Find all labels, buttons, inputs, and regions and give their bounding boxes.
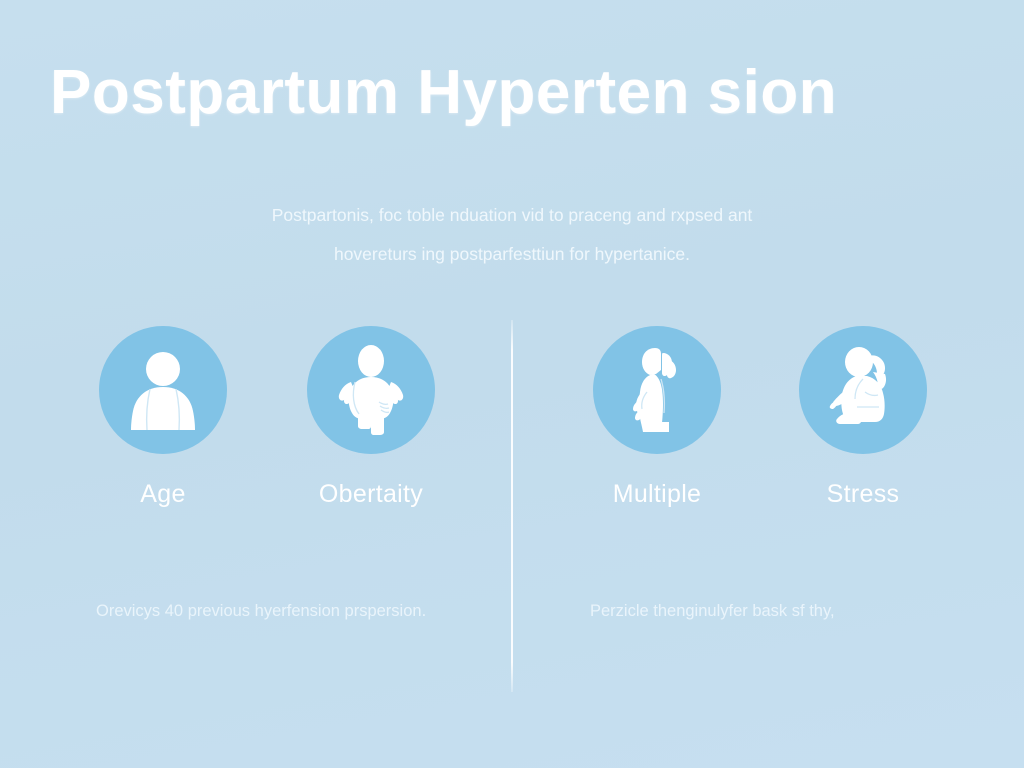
vertical-divider: [511, 320, 513, 692]
pregnant-woman-profile-icon: [593, 326, 721, 454]
risk-item-age[interactable]: Age: [98, 326, 228, 509]
person-bust-icon: [99, 326, 227, 454]
infographic-poster: Postpartum Hyperten sion Postpartonis, f…: [0, 0, 1024, 768]
left-icon-row: Age: [80, 326, 490, 509]
seated-woman-stress-icon: [799, 326, 927, 454]
person-hands-on-hips-icon: [307, 326, 435, 454]
left-panel-caption: Orevicys 40 previous hyerfension prspers…: [96, 598, 441, 624]
right-icon-row: Multiple: [570, 326, 970, 509]
risk-item-label: Obertaity: [306, 480, 436, 509]
subtitle-line-2: hovereturs ing postparfesttiun for hyper…: [140, 235, 884, 274]
risk-item-label: Multiple: [592, 480, 722, 509]
left-risk-panel: Age: [80, 326, 490, 509]
page-title: Postpartum Hyperten sion: [50, 58, 980, 128]
risk-item-label: Stress: [798, 480, 928, 509]
risk-item-stress[interactable]: Stress: [798, 326, 928, 509]
risk-item-label: Age: [98, 480, 228, 509]
right-risk-panel: Multiple: [570, 326, 970, 509]
subtitle-block: Postpartonis, foc toble nduation vid to …: [140, 196, 884, 274]
risk-item-obesity[interactable]: Obertaity: [306, 326, 436, 509]
risk-item-multiple[interactable]: Multiple: [592, 326, 722, 509]
subtitle-line-1: Postpartonis, foc toble nduation vid to …: [140, 196, 884, 235]
right-panel-caption: Perzicle thenginulyfer bask sf thy,: [590, 598, 950, 624]
